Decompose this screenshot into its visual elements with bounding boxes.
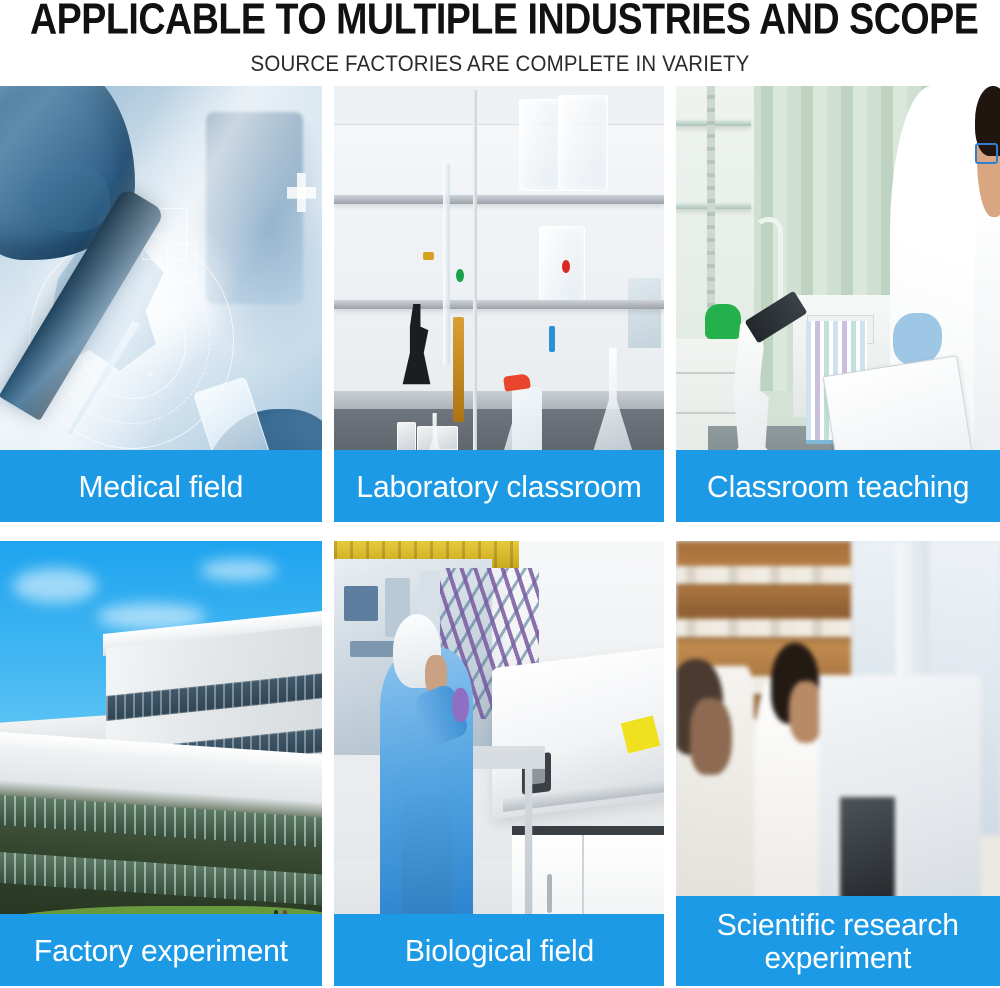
blue-bottle-icon bbox=[549, 326, 556, 352]
caption-label: Scientific research experiment bbox=[717, 908, 959, 974]
grid-cell-laboratory-classroom[interactable]: Laboratory classroom bbox=[334, 86, 664, 522]
lab-shelf-lower bbox=[334, 300, 664, 309]
lab-ceiling bbox=[334, 86, 664, 125]
grid-cell-medical-field[interactable]: Medical field bbox=[0, 86, 322, 522]
cabinet-handle bbox=[547, 874, 552, 913]
tower-glass-band-1 bbox=[106, 673, 322, 721]
lab-window bbox=[628, 278, 661, 348]
wing-glass-band-1 bbox=[0, 794, 322, 848]
grid-cell-classroom-teaching[interactable]: Classroom teaching bbox=[676, 86, 1000, 522]
grid-cell-scientific-research-experiment[interactable]: Scientific research experiment bbox=[676, 541, 1000, 986]
caption-label: Biological field bbox=[404, 934, 593, 967]
promo-banner: APPLICABLE TO MULTIPLE INDUSTRIES AND SC… bbox=[0, 0, 1000, 986]
glass-shelf-rack bbox=[676, 86, 754, 339]
rack-post bbox=[707, 86, 715, 339]
grid-cell-biological-field[interactable]: Biological field bbox=[334, 541, 664, 986]
page-subtitle: SOURCE FACTORIES ARE COMPLETE IN VARIETY bbox=[35, 52, 965, 76]
cloud-1 bbox=[13, 568, 97, 604]
brass-clamp-upper bbox=[453, 317, 465, 422]
yellow-label-icon bbox=[423, 252, 434, 261]
gloved-hand bbox=[893, 313, 942, 365]
industry-grid: Medical field bbox=[0, 86, 1000, 986]
grid-cell-factory-experiment[interactable]: Factory experiment bbox=[0, 541, 322, 986]
caption-label: Medical field bbox=[79, 470, 244, 503]
lab-shelf-upper bbox=[334, 195, 664, 204]
header: APPLICABLE TO MULTIPLE INDUSTRIES AND SC… bbox=[0, 0, 1000, 76]
safety-glasses-icon bbox=[975, 143, 998, 165]
green-equipment bbox=[705, 304, 741, 339]
caption-bar-factory-experiment: Factory experiment bbox=[0, 914, 322, 986]
caption-label: Factory experiment bbox=[34, 934, 288, 967]
caption-bar-biological-field: Biological field bbox=[334, 914, 664, 986]
glass-jar-1 bbox=[519, 99, 562, 191]
purple-glove bbox=[452, 688, 469, 722]
burette bbox=[443, 164, 450, 365]
caption-bar-classroom-teaching: Classroom teaching bbox=[676, 450, 1000, 522]
glassware-row-2 bbox=[676, 619, 851, 637]
caption-bar-scientific-research-experiment: Scientific research experiment bbox=[676, 896, 1000, 986]
researcher-foreground-face bbox=[690, 698, 732, 775]
wing-glass-band-2 bbox=[0, 852, 322, 906]
red-valve-icon bbox=[562, 260, 570, 273]
caption-bar-laboratory-classroom: Laboratory classroom bbox=[334, 450, 664, 522]
cloud-3 bbox=[200, 559, 277, 581]
caption-label: Laboratory classroom bbox=[356, 470, 641, 503]
glassware-row-1 bbox=[676, 566, 851, 584]
researcher-background-face bbox=[789, 681, 823, 743]
page-title: APPLICABLE TO MULTIPLE INDUSTRIES AND SC… bbox=[30, 0, 970, 41]
glass-jar-2 bbox=[558, 95, 608, 191]
retort-stand-rod bbox=[473, 90, 477, 491]
caption-label: Classroom teaching bbox=[707, 470, 969, 503]
caption-bar-medical-field: Medical field bbox=[0, 450, 322, 522]
